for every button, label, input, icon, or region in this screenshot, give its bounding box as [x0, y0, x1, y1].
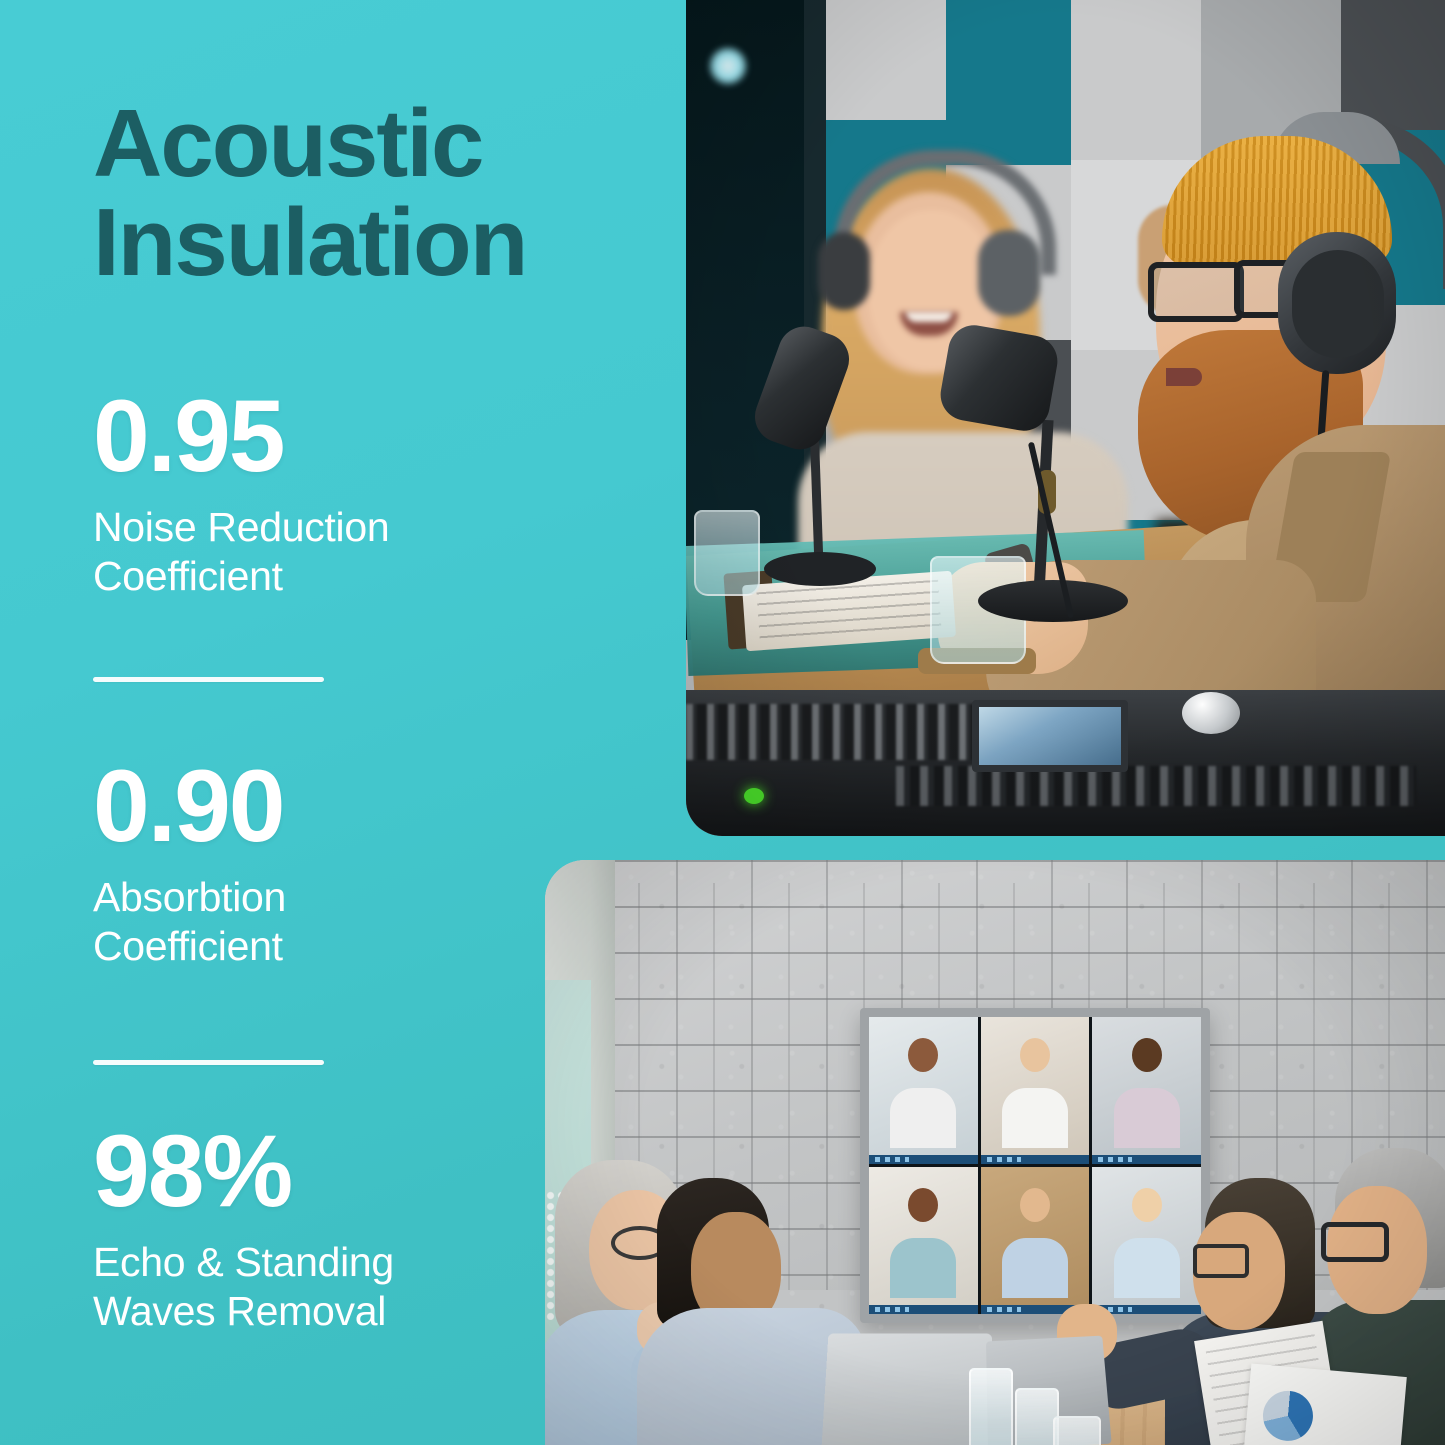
video-call-grid — [869, 1017, 1201, 1314]
notebook-lines — [756, 580, 941, 643]
document-report — [1239, 1363, 1407, 1445]
infographic-canvas: Acoustic Insulation 0.95 Noise Reduction… — [0, 0, 1445, 1445]
stat-block-echo-removal: 98% Echo & Standing Waves Removal — [93, 1120, 563, 1336]
video-call-participant — [869, 1017, 978, 1164]
stat-block-noise-reduction: 0.95 Noise Reduction Coefficient — [93, 385, 563, 601]
host-female-teeth — [906, 312, 952, 322]
stat-label-noise-reduction: Noise Reduction Coefficient — [93, 503, 563, 601]
participant-head — [1132, 1188, 1162, 1222]
water-glass — [1053, 1416, 1101, 1445]
participant-head — [1132, 1038, 1162, 1072]
participant-toolbar — [981, 1155, 1090, 1164]
eyeglasses-icon — [1193, 1244, 1249, 1278]
eyeglasses-icon — [1148, 262, 1244, 322]
page-title-line-1: Acoustic — [93, 95, 633, 194]
headphones-pad — [1292, 250, 1384, 358]
left-content-column: Acoustic Insulation 0.95 Noise Reduction… — [0, 0, 660, 1445]
stat-label-line-2: Waves Removal — [93, 1287, 563, 1336]
divider-2 — [93, 1060, 324, 1065]
stat-label-line-1: Echo & Standing — [93, 1238, 563, 1287]
video-call-participant — [869, 1167, 978, 1314]
page-title-line-2: Insulation — [93, 194, 633, 293]
eyeglasses-icon — [1321, 1222, 1389, 1262]
water-glass — [969, 1368, 1013, 1445]
video-call-participant — [981, 1167, 1090, 1314]
microphone-base — [764, 552, 876, 586]
console-faders — [686, 704, 1016, 760]
video-call-participant — [981, 1017, 1090, 1164]
participant-toolbar — [1092, 1155, 1201, 1164]
participant-toolbar — [869, 1155, 978, 1164]
participant-body — [890, 1088, 956, 1148]
microphone-icon — [937, 321, 1062, 435]
headphones-cup-icon — [978, 230, 1040, 316]
participant-body — [1114, 1088, 1180, 1148]
stat-label-line-2: Coefficient — [93, 552, 563, 601]
participant-body — [1114, 1238, 1180, 1298]
photo-conference-room — [545, 860, 1445, 1445]
participant-body — [890, 1238, 956, 1298]
microphone-base — [978, 580, 1128, 622]
stat-block-absorbtion: 0.90 Absorbtion Coefficient — [93, 755, 563, 971]
page-title: Acoustic Insulation — [93, 95, 633, 293]
stat-label-absorbtion: Absorbtion Coefficient — [93, 873, 563, 971]
stat-value-noise-reduction: 0.95 — [93, 385, 563, 487]
participant-head — [908, 1038, 938, 1072]
video-call-participant — [1092, 1017, 1201, 1164]
stat-value-echo-removal: 98% — [93, 1120, 563, 1222]
pie-chart-icon — [1261, 1389, 1315, 1443]
stat-label-line-2: Coefficient — [93, 922, 563, 971]
participant-body — [1002, 1238, 1068, 1298]
headphones-cup-icon — [818, 232, 870, 310]
console-display-screen — [972, 700, 1128, 772]
wall-mounted-display — [860, 1008, 1210, 1323]
participant-toolbar — [869, 1305, 978, 1314]
participant-head — [908, 1188, 938, 1222]
water-glass — [694, 510, 760, 596]
console-knobs — [896, 766, 1416, 806]
stat-label-line-1: Absorbtion — [93, 873, 563, 922]
stat-label-line-1: Noise Reduction — [93, 503, 563, 552]
stat-label-echo-removal: Echo & Standing Waves Removal — [93, 1238, 563, 1336]
host-male-mouth — [1166, 368, 1202, 386]
participant-body — [1002, 1088, 1068, 1148]
stat-value-absorbtion: 0.90 — [93, 755, 563, 857]
photo-podcast-studio — [686, 0, 1445, 836]
console-status-led — [744, 788, 764, 804]
console-jog-dial — [1182, 692, 1240, 734]
participant-head — [1020, 1038, 1050, 1072]
video-call-participant — [1092, 1167, 1201, 1314]
divider-1 — [93, 677, 324, 682]
participant-head — [1020, 1188, 1050, 1222]
